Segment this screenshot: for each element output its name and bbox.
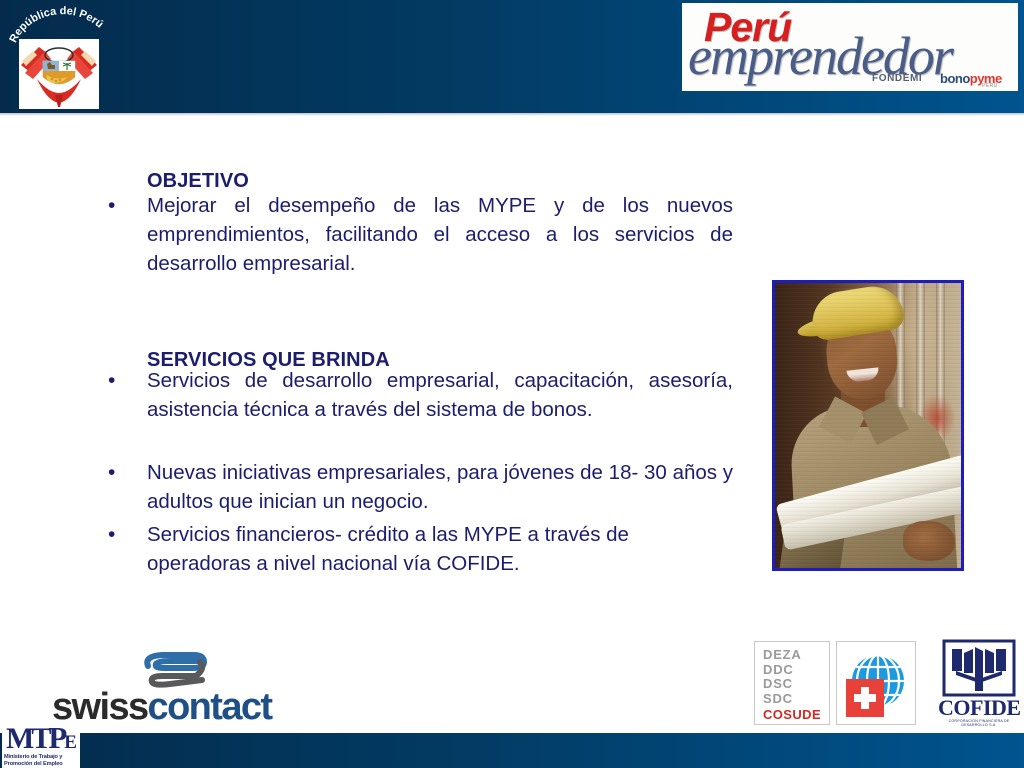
peru-emprendedor-logo: Perú emprendedor FONDEMI bonopyme PERÚ xyxy=(682,3,1018,91)
mtpe-letter-t: T xyxy=(31,722,48,755)
cosude-logo: DEZA DDC DSC SDC COSUDE xyxy=(754,641,830,725)
photo-grain-overlay xyxy=(775,283,961,568)
bullet-icon: • xyxy=(108,463,120,483)
cosude-line-deza: DEZA xyxy=(763,648,829,663)
bonopyme-bono: bono xyxy=(940,71,970,86)
swisscontact-s-mark-icon xyxy=(140,650,212,688)
bullet-icon: • xyxy=(108,371,120,391)
mtpe-letter-m: M xyxy=(6,722,31,755)
servicios-bullet-text-2: Nuevas iniciativas empresariales, para j… xyxy=(147,458,733,516)
bullet-icon: • xyxy=(108,196,120,216)
list-item: • Servicios financieros- crédito a las M… xyxy=(108,520,733,578)
list-item: • Mejorar el desempeño de las MYPE y de … xyxy=(108,191,733,278)
peru-national-emblem: República del Perú xyxy=(8,2,116,110)
cosude-line-sdc: SDC xyxy=(763,692,829,707)
list-item: • Servicios de desarrollo empresarial, c… xyxy=(108,366,733,424)
swiss-cross-globe-icon xyxy=(842,647,910,719)
bullet-icon: • xyxy=(108,525,120,545)
objetivo-heading: OBJETIVO xyxy=(147,170,249,193)
mtpe-subtitle-line-2: Promoción del Empleo xyxy=(4,761,63,767)
mtpe-letter-e: E xyxy=(64,732,74,753)
footer-band xyxy=(0,733,1024,768)
cosude-line-dsc: DSC xyxy=(763,677,829,692)
logo-fondemi-label: FONDEMI xyxy=(872,73,922,84)
bonopyme-sub-label: PERÚ xyxy=(982,83,998,89)
cosude-line-cosude: COSUDE xyxy=(763,707,829,722)
cofide-subtitle: CORPORACIÓN FINANCIERA DE DESARROLLO S.A… xyxy=(938,719,1020,727)
list-item: • Nuevas iniciativas empresariales, para… xyxy=(108,458,733,516)
swiss-cross-globe-logo xyxy=(836,641,916,725)
mtpe-letter-p: P xyxy=(48,722,64,755)
cofide-logo: COFIDE CORPORACIÓN FINANCIERA DE DESARRO… xyxy=(938,639,1020,727)
cofide-tree-mark-icon xyxy=(942,639,1016,697)
mtpe-ministry-logo: MTPE Ministerio de Trabajo y Promoción d… xyxy=(2,722,80,768)
cofide-wordmark: COFIDE xyxy=(938,698,1020,718)
mtpe-monogram: MTPE xyxy=(6,723,74,758)
servicios-bullet-text-1: Servicios de desarrollo empresarial, cap… xyxy=(147,366,733,424)
swisscontact-word-contact: contact xyxy=(148,686,272,728)
swisscontact-wordmark: swisscontact xyxy=(52,686,271,729)
worker-with-hardhat-photo xyxy=(772,280,964,571)
servicios-bullet-text-3: Servicios financieros- crédito a las MYP… xyxy=(147,520,733,578)
mtpe-subtitle-line-1: Ministerio de Trabajo y xyxy=(4,754,62,760)
peru-coat-of-arms-icon xyxy=(19,39,99,109)
cosude-line-ddc: DDC xyxy=(763,663,829,678)
swisscontact-logo: swisscontact xyxy=(52,650,292,730)
objetivo-bullet-text: Mejorar el desempeño de las MYPE y de lo… xyxy=(147,191,733,278)
